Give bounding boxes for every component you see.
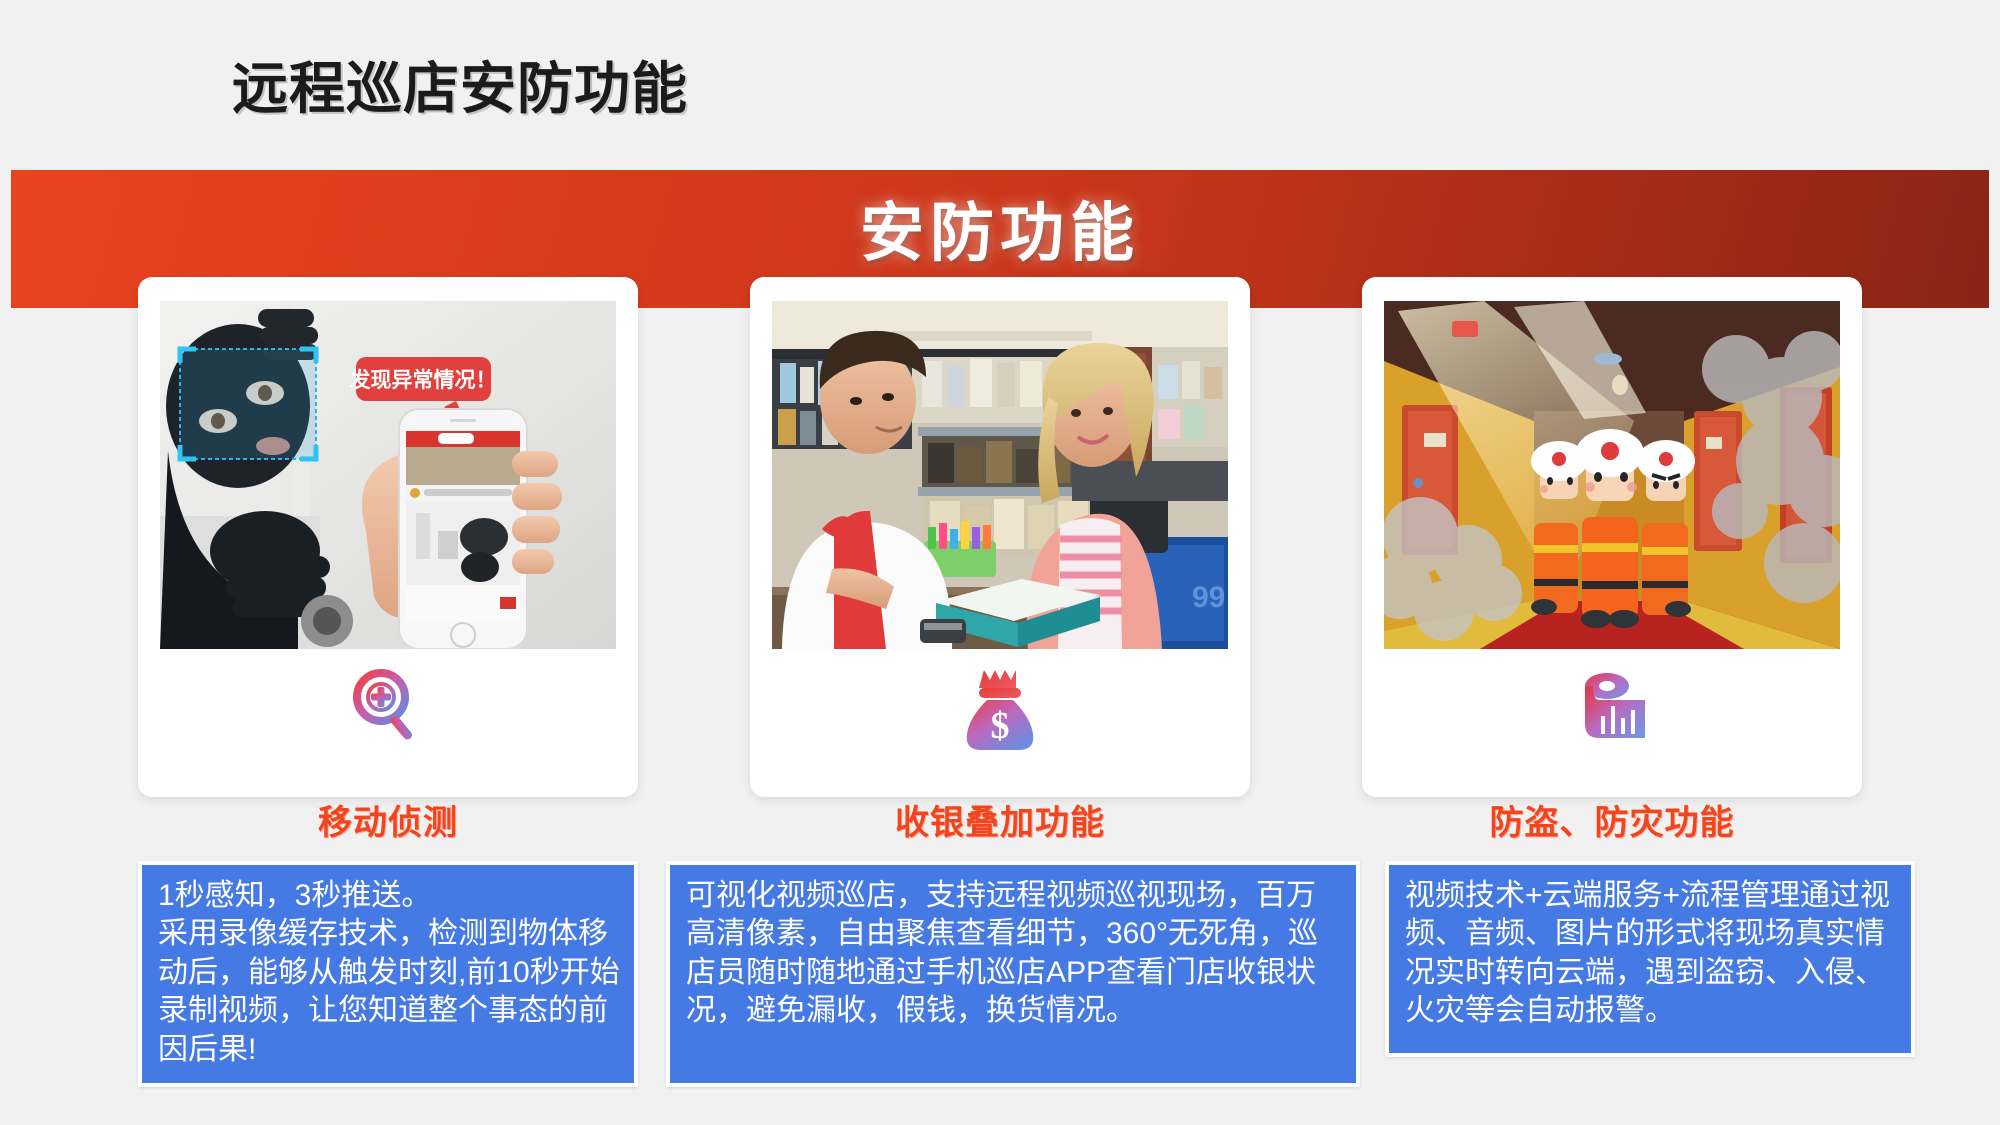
feature-card-row: 发现异常情况！ [0, 277, 2000, 807]
caption-row: 移动侦测 收银叠加功能 防盗、防灾功能 [0, 795, 2000, 855]
paper-roll-chart-icon [1362, 657, 1862, 757]
description-box-1: 1秒感知，3秒推送。 采用录像缓存技术，检测到物体移动后，能够从触发时刻,前10… [138, 861, 638, 1087]
svg-text:99: 99 [1192, 581, 1225, 614]
slide-root: 远程巡店安防功能 安防功能 [0, 0, 2000, 1125]
magnifier-plus-icon [138, 657, 638, 757]
card-photo-burglar: 发现异常情况！ [160, 301, 616, 649]
card-photo-checkout: 99 [772, 301, 1228, 649]
card-caption-1: 移动侦测 [138, 795, 638, 844]
feature-card-motion-detection[interactable]: 发现异常情况！ [138, 277, 638, 797]
card-photo-firefighters [1384, 301, 1840, 649]
card-caption-3: 防盗、防灾功能 [1362, 795, 1862, 844]
svg-text:发现异常情况！: 发现异常情况！ [349, 368, 497, 392]
card-caption-2: 收银叠加功能 [750, 795, 1250, 844]
money-bag-icon: $ [750, 657, 1250, 757]
svg-text:$: $ [991, 705, 1010, 747]
feature-card-cashier-overlay[interactable]: 99 [750, 277, 1250, 797]
feature-card-antitheft-disaster[interactable] [1362, 277, 1862, 797]
description-box-3: 视频技术+云端服务+流程管理通过视频、音频、图片的形式将现场真实情况实时转向云端… [1385, 861, 1915, 1057]
description-box-2: 可视化视频巡店，支持远程视频巡视现场，百万高清像素，自由聚焦查看细节，360°无… [666, 861, 1360, 1087]
banner-title: 安防功能 [11, 182, 1989, 274]
page-title: 远程巡店安防功能 [232, 58, 688, 120]
